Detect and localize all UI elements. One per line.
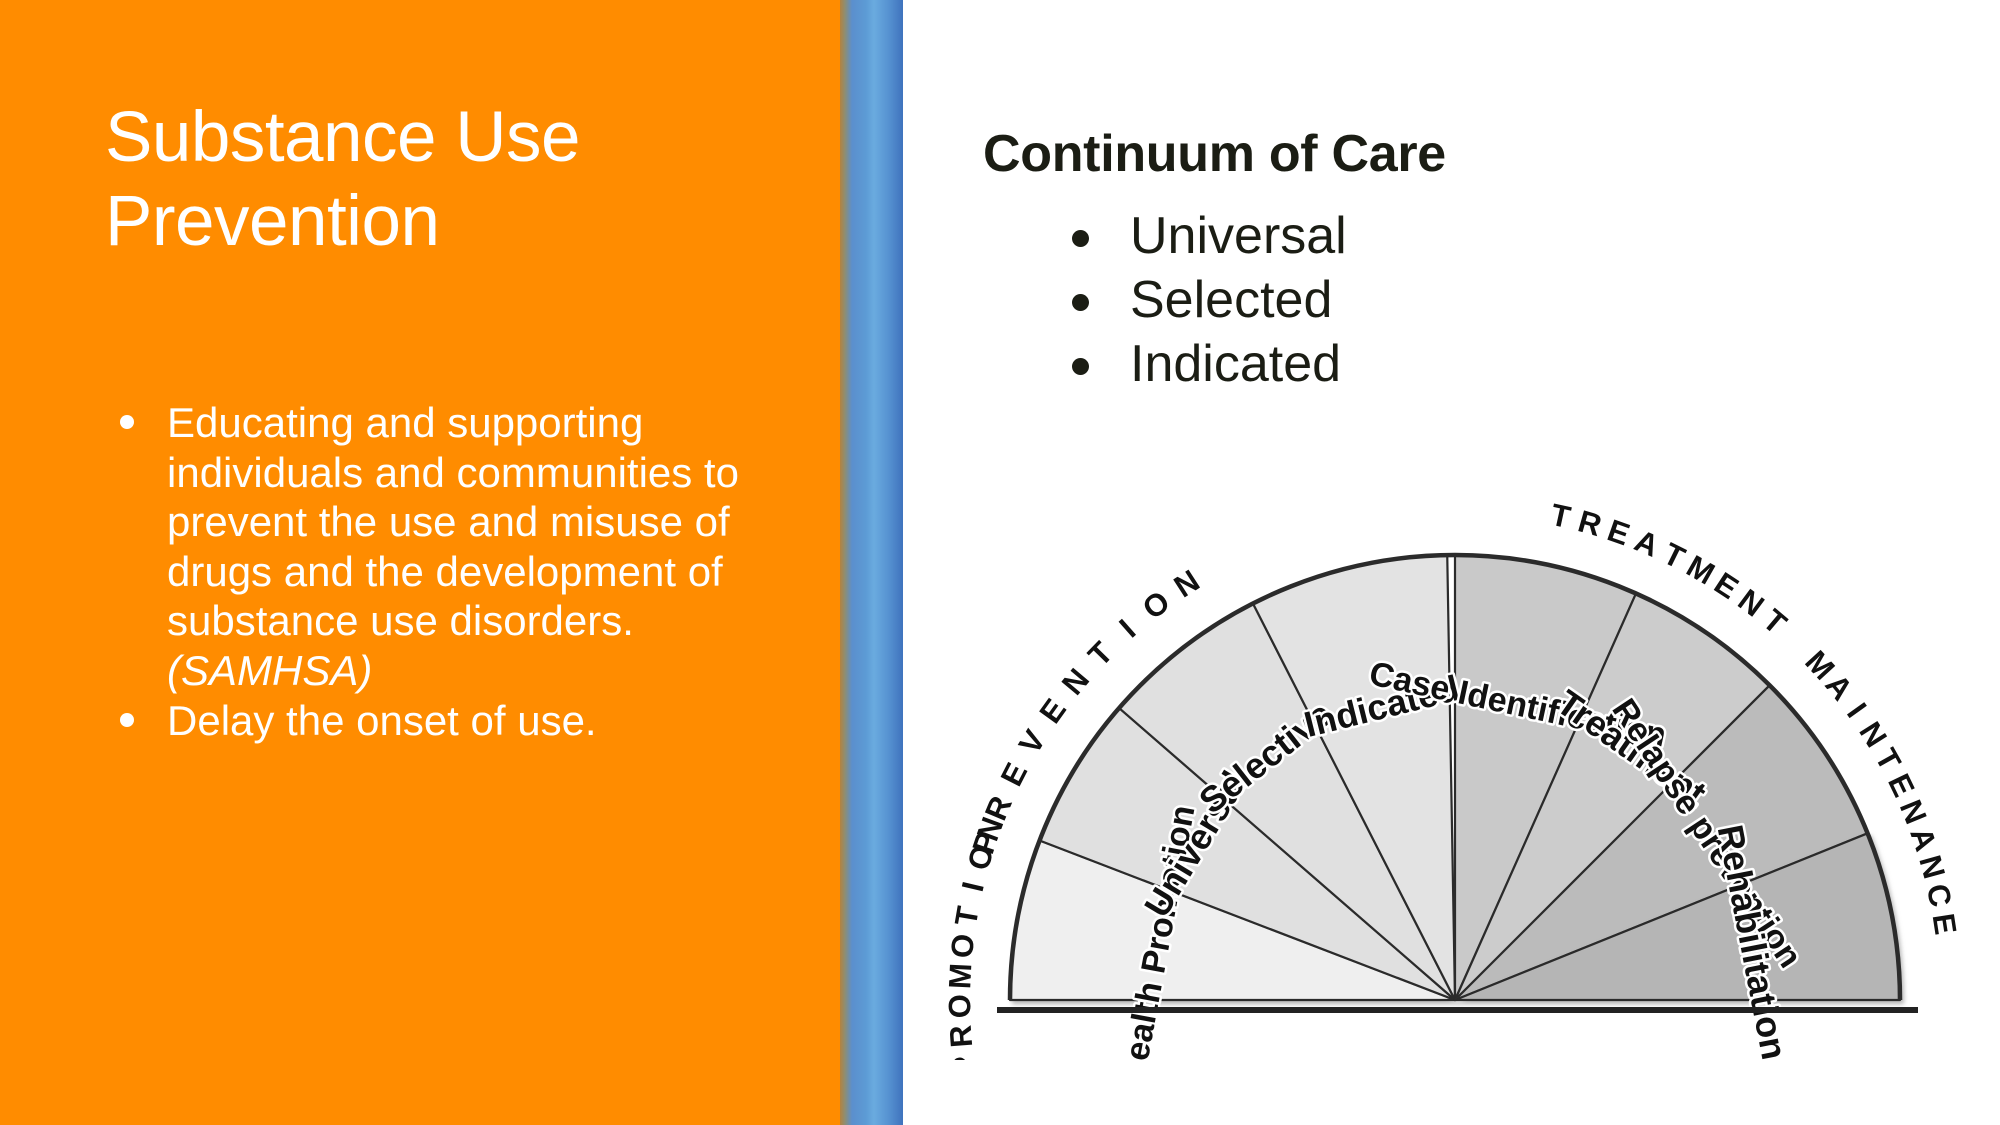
fan-band-label-char: N bbox=[1168, 563, 1206, 605]
bullet-dot-icon bbox=[1072, 294, 1089, 311]
fan-band-label-char: T bbox=[1756, 602, 1793, 641]
continuum-of-care-fan-diagram: Health PromotionUniversalSelectiveIndica… bbox=[930, 470, 2000, 1060]
list-item-label: Universal bbox=[1130, 207, 1347, 265]
fan-band-label-char: N bbox=[1852, 716, 1894, 754]
left-bullet-list: Educating and supporting individuals and… bbox=[105, 398, 805, 747]
fan-band-label-char: A bbox=[1630, 523, 1664, 564]
fan-band-label-char: N bbox=[1055, 662, 1096, 702]
fan-band-label-char: I bbox=[1113, 612, 1143, 644]
fan-band-label-char: R bbox=[1574, 504, 1605, 544]
bullet-citation: (SAMHSA) bbox=[167, 647, 372, 694]
fan-band-label-char: I bbox=[955, 878, 991, 894]
fan-band-label-char: E bbox=[994, 757, 1035, 791]
list-item: Educating and supporting individuals and… bbox=[105, 398, 805, 695]
fan-band-label-char: A bbox=[1903, 823, 1943, 856]
fan-band-label-char: T bbox=[1081, 635, 1119, 673]
fan-band-label-char: E bbox=[1926, 911, 1964, 937]
fan-diagram-svg: Health PromotionUniversalSelectiveIndica… bbox=[930, 470, 2000, 1060]
continuum-of-care-heading: Continuum of Care bbox=[983, 126, 1446, 182]
list-item: Selected bbox=[1070, 268, 1347, 332]
fan-band-label-char: N bbox=[1912, 852, 1952, 883]
fan-band-label-char: N bbox=[1893, 795, 1934, 829]
bullet-text: Delay the onset of use. bbox=[167, 697, 597, 744]
fan-band-label-char: O bbox=[942, 994, 977, 1019]
slide-canvas: Substance Use Prevention Educating and s… bbox=[0, 0, 2000, 1125]
fan-band-label-char: T bbox=[948, 904, 986, 929]
fan-band-label-char: P bbox=[945, 1054, 982, 1060]
bullet-dot-icon bbox=[1072, 230, 1089, 247]
fan-band-label-char: E bbox=[1603, 513, 1634, 553]
bullet-dot-icon bbox=[120, 415, 134, 429]
list-item: Delay the onset of use. bbox=[105, 696, 805, 746]
fan-band-label-char: T bbox=[1868, 743, 1908, 777]
fan-band-label-char: O bbox=[1136, 584, 1176, 626]
fan-band-label-char: O bbox=[944, 932, 981, 960]
list-item-label: Indicated bbox=[1130, 335, 1341, 393]
fan-band-label-char: E bbox=[1881, 768, 1922, 802]
fan-band-label-char: I bbox=[1840, 697, 1873, 724]
bullet-dot-icon bbox=[1072, 358, 1089, 375]
list-item: Universal bbox=[1070, 204, 1347, 268]
bullet-text: Educating and supporting individuals and… bbox=[167, 399, 739, 644]
list-item: Indicated bbox=[1070, 332, 1347, 396]
fan-band-label-char: V bbox=[1012, 724, 1053, 760]
slide-title: Substance Use Prevention bbox=[105, 96, 795, 264]
fan-band-label-char: R bbox=[943, 1024, 980, 1049]
bullet-dot-icon bbox=[120, 713, 134, 727]
fan-band-label-char: M bbox=[942, 962, 978, 989]
list-item-label: Selected bbox=[1130, 271, 1332, 329]
continuum-of-care-list: Universal Selected Indicated bbox=[1070, 204, 1347, 396]
fan-band-label-char: E bbox=[1033, 692, 1073, 729]
fan-band-label-char: T bbox=[1548, 497, 1574, 535]
fan-band-label-char: C bbox=[1920, 881, 1959, 910]
vertical-blue-divider-stripe bbox=[840, 0, 903, 1125]
